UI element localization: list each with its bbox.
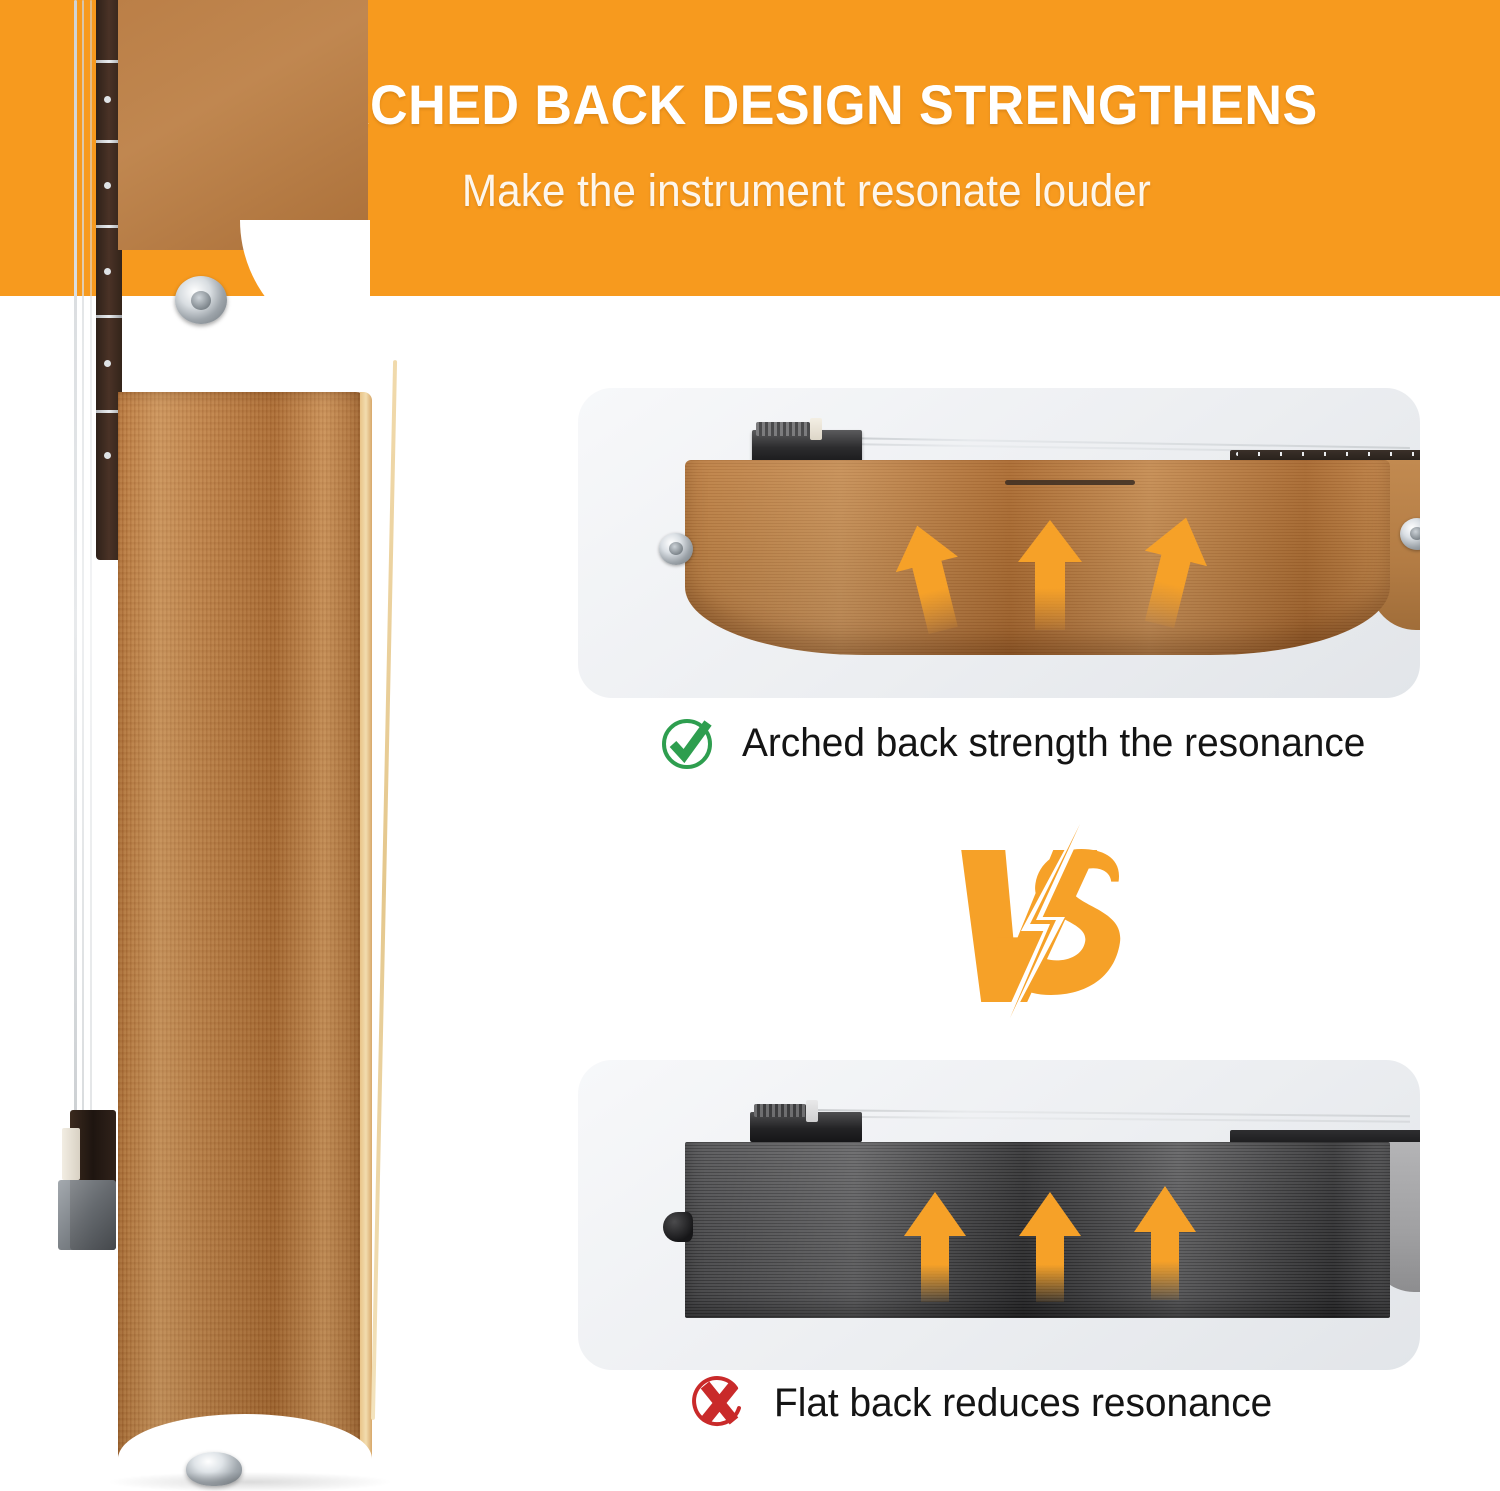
- arched-back-photo-card: [578, 388, 1420, 698]
- resonance-arrow-icon: [1120, 1182, 1210, 1304]
- ukulele-side-profile-photo: [0, 0, 470, 1491]
- fret-marker: [104, 452, 111, 459]
- resonance-arrow-icon: [1005, 516, 1095, 634]
- flat-back-photo-card: [578, 1060, 1420, 1370]
- arched-back-caption-row: Arched back strength the resonance: [658, 714, 1385, 772]
- bridge-and-saddle: [752, 430, 862, 462]
- drop-shadow: [110, 1472, 390, 1491]
- saddle: [62, 1128, 80, 1180]
- fret-marker: [104, 360, 111, 367]
- resonance-arrow-icon: [885, 520, 975, 635]
- arched-back-photo: [630, 408, 1390, 678]
- strap-button-icon: [663, 1212, 693, 1242]
- versus-graphic: [930, 820, 1170, 1030]
- strings-group: [780, 1108, 1410, 1132]
- fret-marker: [104, 96, 111, 103]
- string: [82, 0, 84, 1250]
- body-edge-highlight: [360, 392, 372, 1472]
- fret: [96, 315, 122, 318]
- fret-marker: [104, 268, 111, 275]
- strap-screw-icon: [175, 276, 227, 324]
- string: [90, 0, 92, 1250]
- vs-icon: [930, 820, 1170, 1030]
- check-circle-icon: [658, 714, 716, 772]
- fret-marker: [104, 182, 111, 189]
- heel-curve-cutout: [240, 220, 370, 350]
- arched-back-caption: Arched back strength the resonance: [742, 721, 1365, 766]
- flat-back-caption-row: Flat back reduces resonance: [690, 1374, 1288, 1432]
- flat-back-caption: Flat back reduces resonance: [774, 1381, 1272, 1426]
- body-binding: [371, 360, 397, 1420]
- string: [780, 1115, 1410, 1122]
- resonance-arrow-icon: [890, 1188, 980, 1306]
- resonance-arrow-icon: [1125, 512, 1221, 632]
- product-feature-infographic: ARCHED BACK DESIGN STRENGTHENS Make the …: [0, 0, 1500, 1491]
- neck-heel-block: [118, 0, 368, 250]
- bridge-and-saddle: [750, 1112, 862, 1142]
- tuner-hardware: [58, 1180, 116, 1250]
- string: [74, 0, 77, 1250]
- resonance-arrow-icon: [1005, 1188, 1095, 1306]
- ukulele-body-side: [118, 392, 370, 1472]
- flat-back-photo: [630, 1080, 1390, 1350]
- sound-slot: [1005, 480, 1135, 485]
- strap-screw-icon: [659, 533, 693, 565]
- x-circle-icon: [690, 1374, 748, 1432]
